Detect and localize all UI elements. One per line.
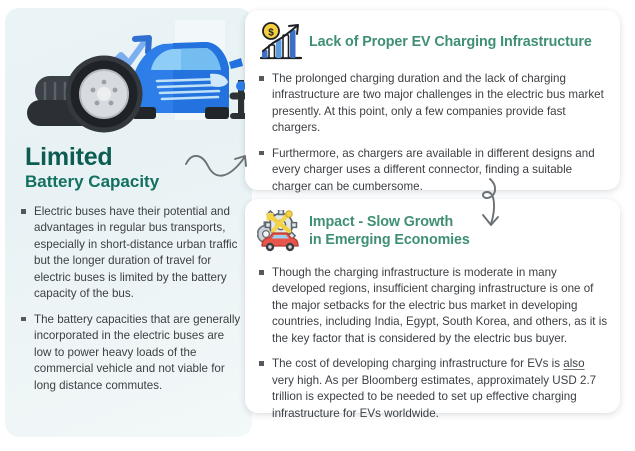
list-item-text: The prolonged charging duration and the … [272, 72, 604, 134]
card-header: Impact - Slow Growth in Emerging Economi… [257, 210, 470, 252]
wavy-arrow-right [182, 142, 258, 196]
list-item: Though the charging infrastructure is mo… [257, 265, 609, 347]
left-panel: Limited Battery Capacity Electric buses … [5, 8, 252, 437]
card-title-line-2: in Emerging Economies [309, 231, 470, 249]
svg-text:$: $ [268, 28, 274, 39]
car-crash-tires-illustration [5, 8, 252, 136]
list-item: The battery capacities that are generall… [19, 312, 243, 394]
left-panel-bullets: Electric buses have their potential and … [19, 204, 243, 394]
card-impact-slow-growth: Impact - Slow Growth in Emerging Economi… [245, 199, 620, 413]
bullet-square-icon [259, 270, 264, 275]
infographic-canvas: Limited Battery Capacity Electric buses … [0, 0, 635, 451]
list-item-text: The cost of developing charging infrastr… [272, 357, 596, 419]
bullet-square-icon [259, 76, 264, 81]
bullet-square-icon [21, 209, 26, 214]
list-item: Electric buses have their potential and … [19, 204, 243, 303]
card-title: Lack of Proper EV Charging Infrastructur… [309, 33, 592, 51]
card-header: $ Lack of Proper EV Charging Infrastruct… [257, 21, 592, 63]
spellcheck-underlined-word: also [563, 357, 584, 370]
list-item-text: Though the charging infrastructure is mo… [272, 266, 607, 345]
list-item-text: The battery capacities that are generall… [34, 313, 240, 392]
list-item: The cost of developing charging infrastr… [257, 356, 609, 422]
bullet-square-icon [259, 361, 264, 366]
gear-wrench-car-icon [257, 210, 303, 252]
bullet-square-icon [259, 151, 264, 156]
looping-arrow-down [466, 176, 524, 234]
list-item: Furthermore, as chargers are available i… [257, 146, 609, 195]
card-title: Impact - Slow Growth in Emerging Economi… [309, 213, 470, 250]
list-item-text: Electric buses have their potential and … [34, 205, 237, 300]
card-charging-infrastructure: $ Lack of Proper EV Charging Infrastruct… [245, 10, 620, 190]
card-bullets: The prolonged charging duration and the … [257, 71, 609, 195]
card-bullets: Though the charging infrastructure is mo… [257, 265, 609, 422]
card-title-line-1: Impact - Slow Growth [309, 213, 470, 231]
list-item-text: Furthermore, as chargers are available i… [272, 147, 595, 193]
bullet-square-icon [21, 317, 26, 322]
list-item: The prolonged charging duration and the … [257, 71, 609, 137]
growth-chart-dollar-icon: $ [257, 21, 303, 63]
